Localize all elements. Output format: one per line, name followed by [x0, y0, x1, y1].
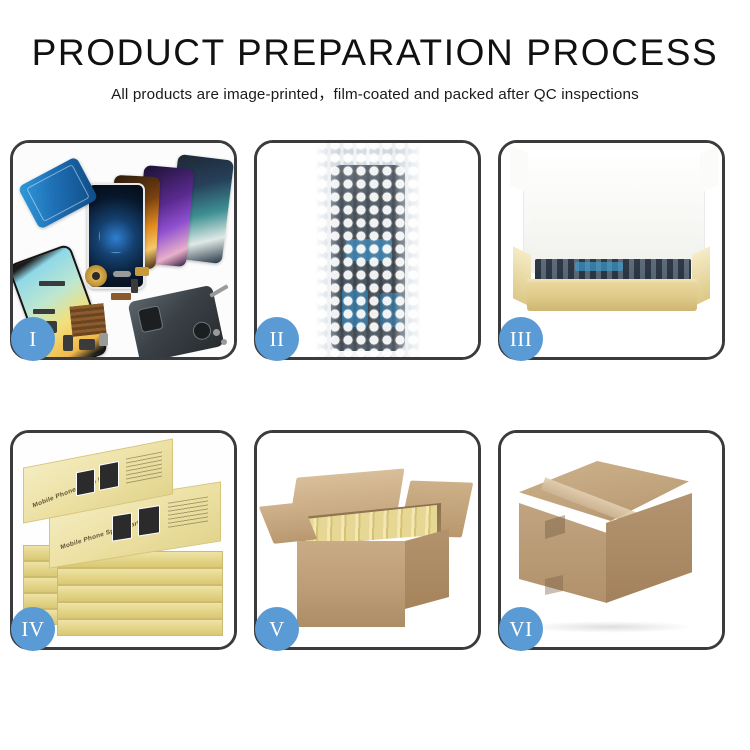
- process-step-panel-2[interactable]: II: [254, 140, 481, 360]
- step-badge-3: III: [499, 317, 543, 361]
- product-photo-chip: [138, 505, 160, 536]
- film-gloss-overlay: [316, 143, 420, 357]
- step-badge-5: V: [255, 607, 299, 651]
- step-badge-6: VI: [499, 607, 543, 651]
- screw-part: [213, 329, 220, 336]
- spec-text-lines: [168, 496, 208, 528]
- step-badge-2: II: [255, 317, 299, 361]
- step-badge-4: IV: [11, 607, 55, 651]
- vibration-motor-part: [85, 265, 107, 287]
- gold-contact-part: [135, 267, 149, 276]
- screw-part: [221, 339, 227, 345]
- product-photo-chip: [112, 512, 132, 541]
- process-step-panel-5[interactable]: V: [254, 430, 481, 650]
- carton-shadow: [525, 621, 695, 633]
- retail-box-side: [57, 585, 223, 602]
- flex-cable-part: [113, 271, 131, 277]
- charging-port-part: [79, 339, 95, 350]
- spec-text-lines: [126, 452, 162, 485]
- battery-connector-part: [99, 333, 108, 346]
- page-header: PRODUCT PREPARATION PROCESS All products…: [0, 0, 750, 104]
- carton-front-face: [297, 541, 405, 627]
- ribbon-cable-part: [33, 309, 55, 314]
- page-subtitle: All products are image-printed，film-coat…: [0, 82, 750, 104]
- antenna-strip-part: [111, 293, 131, 300]
- connector-grid-part: [70, 303, 107, 336]
- earpiece-part: [39, 281, 65, 286]
- carton-right-side: [405, 529, 449, 609]
- retail-box-side: [57, 568, 223, 585]
- page-title: PRODUCT PREPARATION PROCESS: [0, 34, 750, 73]
- process-step-panel-1[interactable]: I: [10, 140, 237, 360]
- step-badge-1: I: [11, 317, 55, 361]
- process-step-panel-4[interactable]: Mobile Phone Spare Parts Mobile Phone Sp…: [10, 430, 237, 650]
- mailer-box-base: [527, 283, 697, 311]
- process-step-panel-3[interactable]: III: [498, 140, 725, 360]
- sim-tray-part: [63, 335, 73, 351]
- product-photo-chip: [99, 461, 119, 491]
- product-photo-chip: [76, 469, 95, 497]
- process-step-panel-6[interactable]: VI: [498, 430, 725, 650]
- button-part: [131, 279, 138, 293]
- process-step-grid: I II: [10, 140, 740, 650]
- retail-box-side: [57, 619, 223, 636]
- retail-box-side: [57, 602, 223, 619]
- product-preparation-page: PRODUCT PREPARATION PROCESS All products…: [0, 0, 750, 750]
